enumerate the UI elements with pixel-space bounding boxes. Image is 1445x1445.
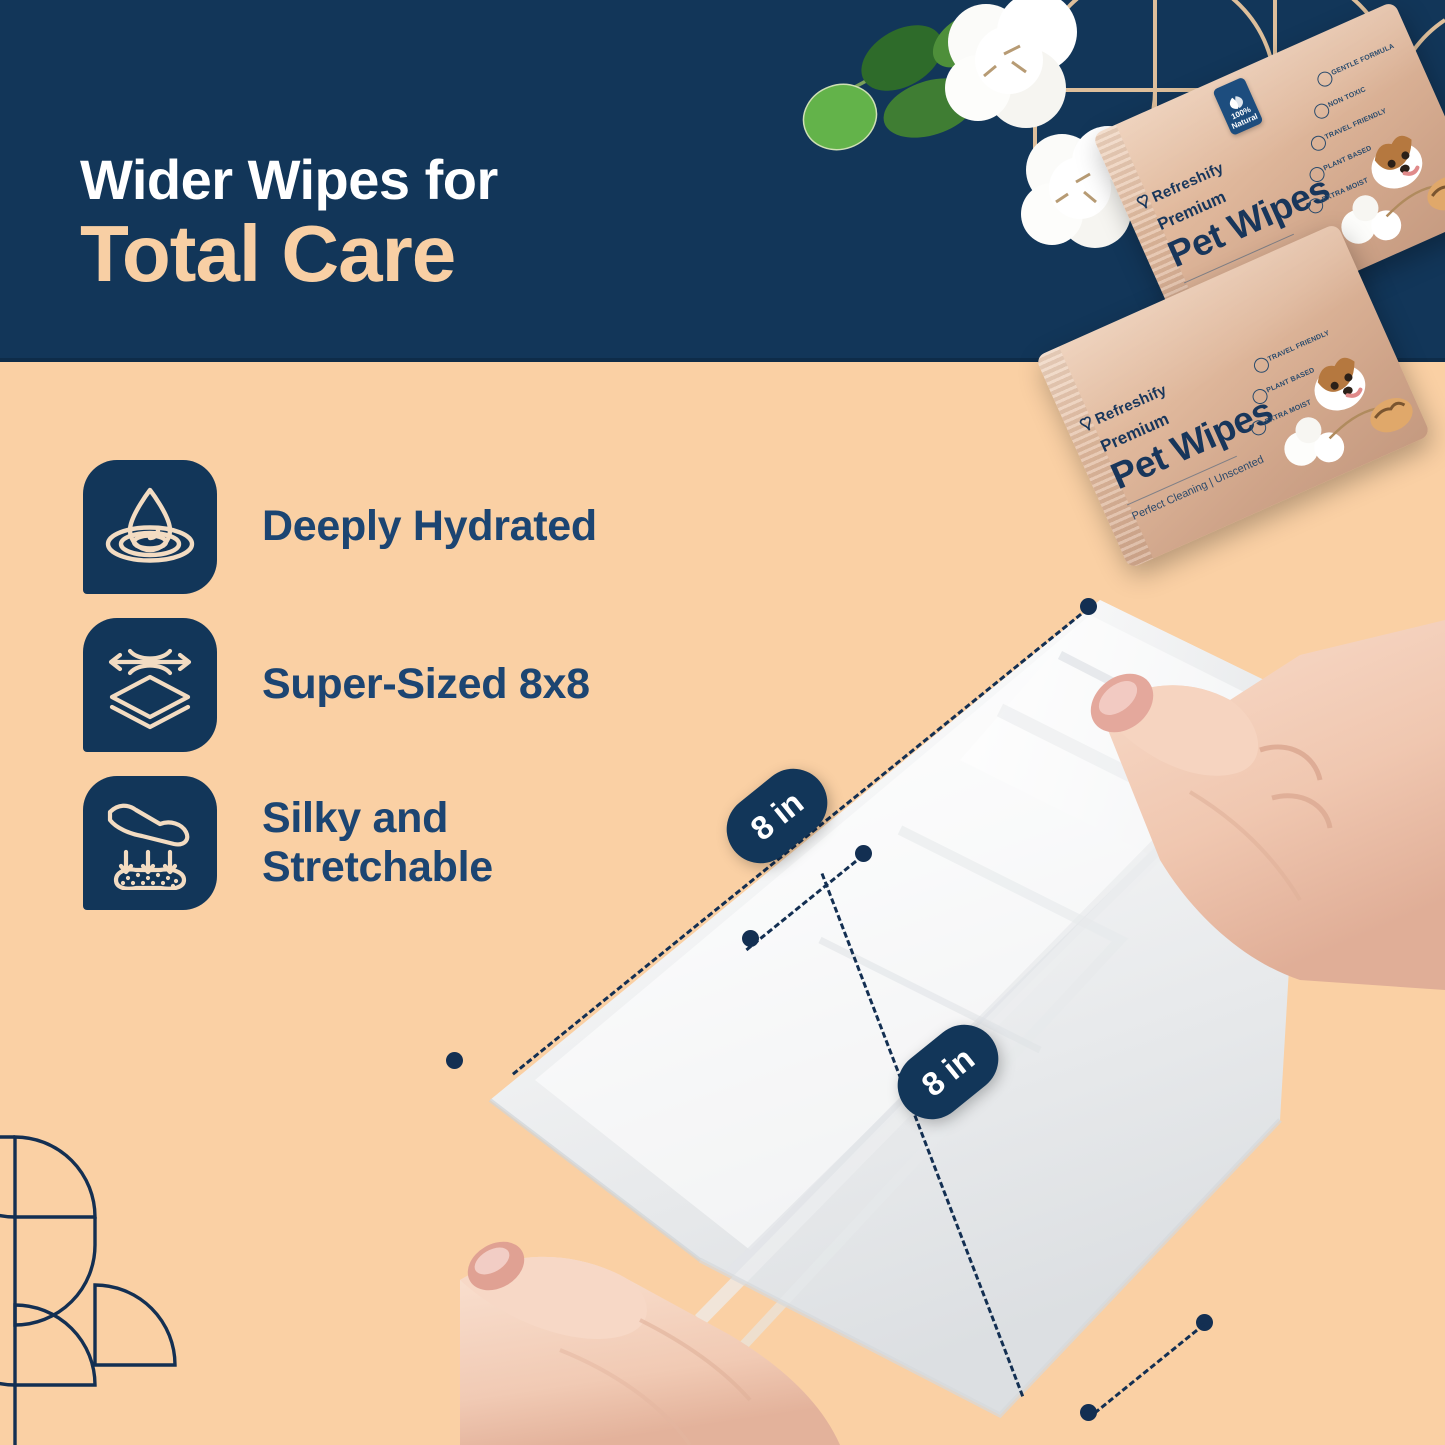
dim-width-dot-end xyxy=(446,1052,463,1069)
feature-label-line-1: Silky and xyxy=(262,794,448,842)
feature-label: Super-Sized 8x8 xyxy=(262,660,590,709)
claim-icon-extra-moist xyxy=(1249,418,1269,438)
dim-width-pill: 8 in xyxy=(713,755,841,877)
dim-height-line xyxy=(821,873,1024,1397)
eucalyptus-sprig-icon xyxy=(794,1,1007,159)
claim-plant-based: PLANT BASED xyxy=(1266,367,1317,395)
feature-row-super-sized: Super-Sized 8x8 xyxy=(83,610,597,760)
feature-label: Deeply Hydrated xyxy=(262,502,597,551)
headline-line-2: Total Care xyxy=(80,214,498,294)
headline: Wider Wipes for Total Care xyxy=(80,152,498,294)
hand-supporting-wipe-icon xyxy=(459,1232,840,1445)
dim-height-pill: 8 in xyxy=(884,1011,1012,1133)
package-crimp-edge xyxy=(1035,347,1153,570)
dim-width-label: 8 in xyxy=(743,784,810,849)
feature-icon-box xyxy=(83,618,217,752)
feature-row-deeply-hydrated: Deeply Hydrated xyxy=(83,452,597,602)
feature-list: Deeply Hydrated Super-Sized 8x8 xyxy=(83,452,597,926)
cotton-boll-icon xyxy=(945,0,1077,128)
white-wipe-cloth-icon xyxy=(490,600,1305,1415)
hand-holding-wipe-icon xyxy=(1079,620,1445,990)
package-subtitle: Perfect Cleaning | Unscented xyxy=(1130,454,1265,523)
package-premium-label: Premium xyxy=(1098,409,1173,457)
product-infographic: Wider Wipes for Total Care 100% Natural … xyxy=(0,0,1445,1445)
feature-icon-box xyxy=(83,776,217,910)
dim-height-dot-connector xyxy=(742,930,759,947)
dim-height-label: 8 in xyxy=(914,1040,981,1105)
headline-line-1: Wider Wipes for xyxy=(80,152,498,208)
dim-width-line xyxy=(512,607,1089,1075)
package-divider xyxy=(1127,456,1237,506)
feature-label: Silky and Stretchable xyxy=(262,794,493,892)
cotton-boll-icon xyxy=(1021,126,1130,248)
leaf-lattice-pattern-bottom-icon xyxy=(0,1125,240,1445)
dim-bottom-dot xyxy=(1080,1404,1097,1421)
feature-row-silky-stretchable: Silky and Stretchable xyxy=(83,768,597,918)
cotton-and-eucalyptus-decor-icon xyxy=(790,0,1130,280)
hand-pressing-soft-pad-icon xyxy=(102,796,198,890)
claim-extra-moist: EXTRA MOIST xyxy=(1264,399,1313,427)
water-droplet-ripple-icon xyxy=(104,484,196,570)
brand-logo-icon xyxy=(1075,412,1097,435)
feature-label-line-2: Stretchable xyxy=(262,843,493,891)
leaf-lattice-pattern-icon xyxy=(1025,0,1445,362)
feature-icon-box xyxy=(83,460,217,594)
dim-height-connector-bottom xyxy=(1086,1323,1204,1420)
stacked-sheets-width-arrow-icon xyxy=(102,639,198,731)
claim-icon-plant-based xyxy=(1250,387,1270,407)
package-title: Pet Wipes xyxy=(1105,390,1279,498)
package-brand: Refreshify xyxy=(1093,381,1170,428)
